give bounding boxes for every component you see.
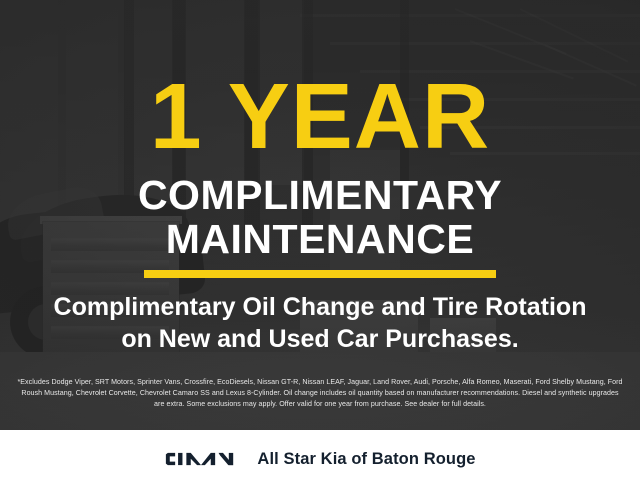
kia-logo	[164, 449, 238, 469]
offer-subheadline: Complimentary Oil Change and Tire Rotati…	[0, 291, 640, 355]
promo-banner: 1 YEAR COMPLIMENTARY MAINTENANCE Complim…	[0, 0, 640, 488]
dealer-logo-bar: All Star Kia of Baton Rouge	[0, 430, 640, 488]
headline-maintenance: MAINTENANCE	[0, 219, 640, 260]
disclaimer-text: *Excludes Dodge Viper, SRT Motors, Sprin…	[16, 377, 624, 409]
offer-subheadline-line2: on New and Used Car Purchases.	[0, 323, 640, 355]
dealer-name: All Star Kia of Baton Rouge	[257, 450, 475, 469]
offer-subheadline-line1: Complimentary Oil Change and Tire Rotati…	[0, 291, 640, 323]
banner-content: 1 YEAR COMPLIMENTARY MAINTENANCE Complim…	[0, 0, 640, 488]
headline-year: 1 YEAR	[0, 72, 640, 160]
headline-complimentary: COMPLIMENTARY	[0, 175, 640, 216]
yellow-divider-rule	[144, 270, 496, 278]
